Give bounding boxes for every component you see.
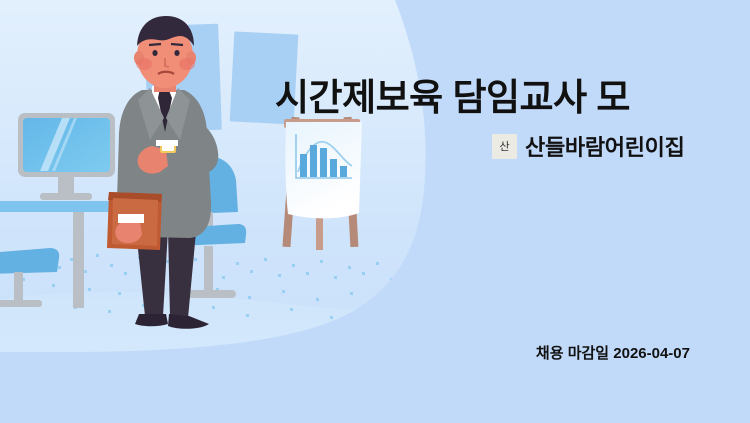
eye-left [152,50,157,56]
organization-row: 산 산들바람어린이집 [492,130,685,162]
shoe-left [135,314,168,326]
blush-left [136,58,152,70]
brow-right [171,44,183,45]
organization-name: 산들바람어린이집 [525,130,685,162]
eye-right [174,50,179,56]
job-posting-banner: 시간제보육 담임교사 모 산 산들바람어린이집 채용 마감일 2026-04-0… [0,0,750,423]
page-title: 시간제보육 담임교사 모 [275,74,695,122]
deadline-text: 채용 마감일 2026-04-07 [536,342,690,363]
cuff-left [118,214,144,223]
watch-face [162,146,174,151]
cuff-right [156,140,178,146]
floor [0,292,470,423]
organization-badge: 산 [492,134,517,159]
illustration-background [0,0,470,423]
brow-left [149,44,161,45]
blush-right [179,58,195,70]
illustration-panel [0,0,470,423]
